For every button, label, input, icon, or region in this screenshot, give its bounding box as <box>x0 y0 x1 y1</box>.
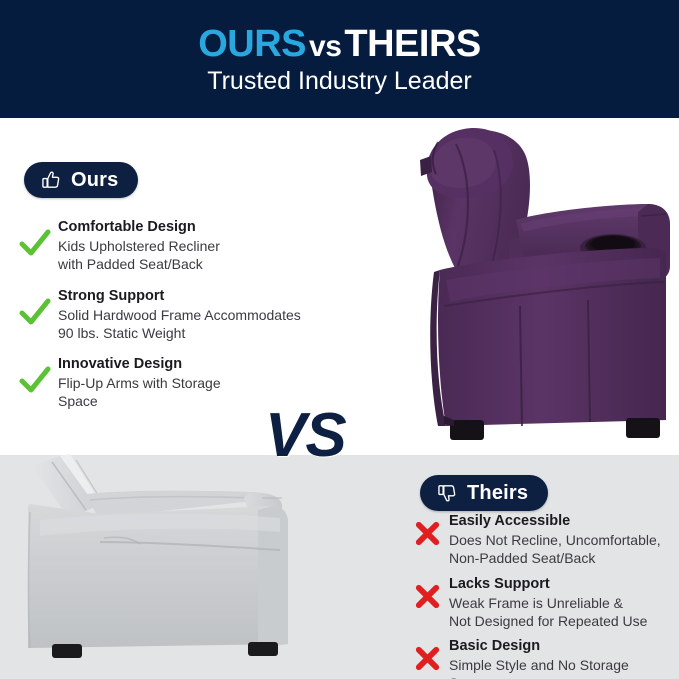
feature-description: Flip-Up Arms with Storage Space <box>58 374 221 410</box>
title-ours-word: OURS <box>198 23 306 65</box>
feature-description: Does Not Recline, Uncomfortable, Non-Pad… <box>449 531 661 567</box>
list-item: Strong Support Solid Hardwood Frame Acco… <box>18 287 358 343</box>
theirs-badge-label: Theirs <box>467 483 528 503</box>
theirs-feature-list: Easily Accessible Does Not Recline, Unco… <box>412 512 679 679</box>
feature-description: Solid Hardwood Frame Accommodates 90 lbs… <box>58 306 301 342</box>
list-item: Lacks Support Weak Frame is Unreliable &… <box>412 575 679 631</box>
check-icon <box>18 226 52 260</box>
feature-title: Basic Design <box>449 637 629 655</box>
thumbs-up-icon <box>40 169 62 191</box>
ours-product-image <box>398 120 679 455</box>
page-subtitle: Trusted Industry Leader <box>207 69 472 94</box>
theirs-badge[interactable]: Theirs <box>420 475 548 511</box>
x-icon <box>412 643 443 674</box>
list-item: Easily Accessible Does Not Recline, Unco… <box>412 512 679 568</box>
x-icon <box>412 581 443 612</box>
list-item: Comfortable Design Kids Upholstered Recl… <box>18 218 358 274</box>
feature-title: Comfortable Design <box>58 218 220 236</box>
ours-feature-list: Comfortable Design Kids Upholstered Recl… <box>18 218 358 424</box>
title-vs-word: vs <box>306 30 344 63</box>
header-banner: OURSvsTHEIRS Trusted Industry Leader <box>0 0 679 118</box>
check-icon <box>18 363 52 397</box>
check-icon <box>18 295 52 329</box>
list-item: Basic Design Simple Style and No Storage… <box>412 637 679 679</box>
title-theirs-word: THEIRS <box>344 23 480 65</box>
page-title: OURSvsTHEIRS <box>198 25 481 63</box>
feature-description: Weak Frame is Unreliable & Not Designed … <box>449 594 647 630</box>
feature-description: Kids Upholstered Recliner with Padded Se… <box>58 237 220 273</box>
comparison-infographic: OURSvsTHEIRS Trusted Industry Leader <box>0 0 679 679</box>
list-item: Innovative Design Flip-Up Arms with Stor… <box>18 355 358 411</box>
thumbs-down-icon <box>436 482 458 504</box>
x-icon <box>412 518 443 549</box>
feature-title: Lacks Support <box>449 575 647 593</box>
feature-title: Easily Accessible <box>449 512 661 530</box>
theirs-product-image <box>0 448 320 679</box>
ours-badge-label: Ours <box>71 170 118 190</box>
feature-description: Simple Style and No Storage Space <box>449 656 629 679</box>
feature-title: Innovative Design <box>58 355 221 373</box>
feature-title: Strong Support <box>58 287 301 305</box>
ours-badge[interactable]: Ours <box>24 162 138 198</box>
